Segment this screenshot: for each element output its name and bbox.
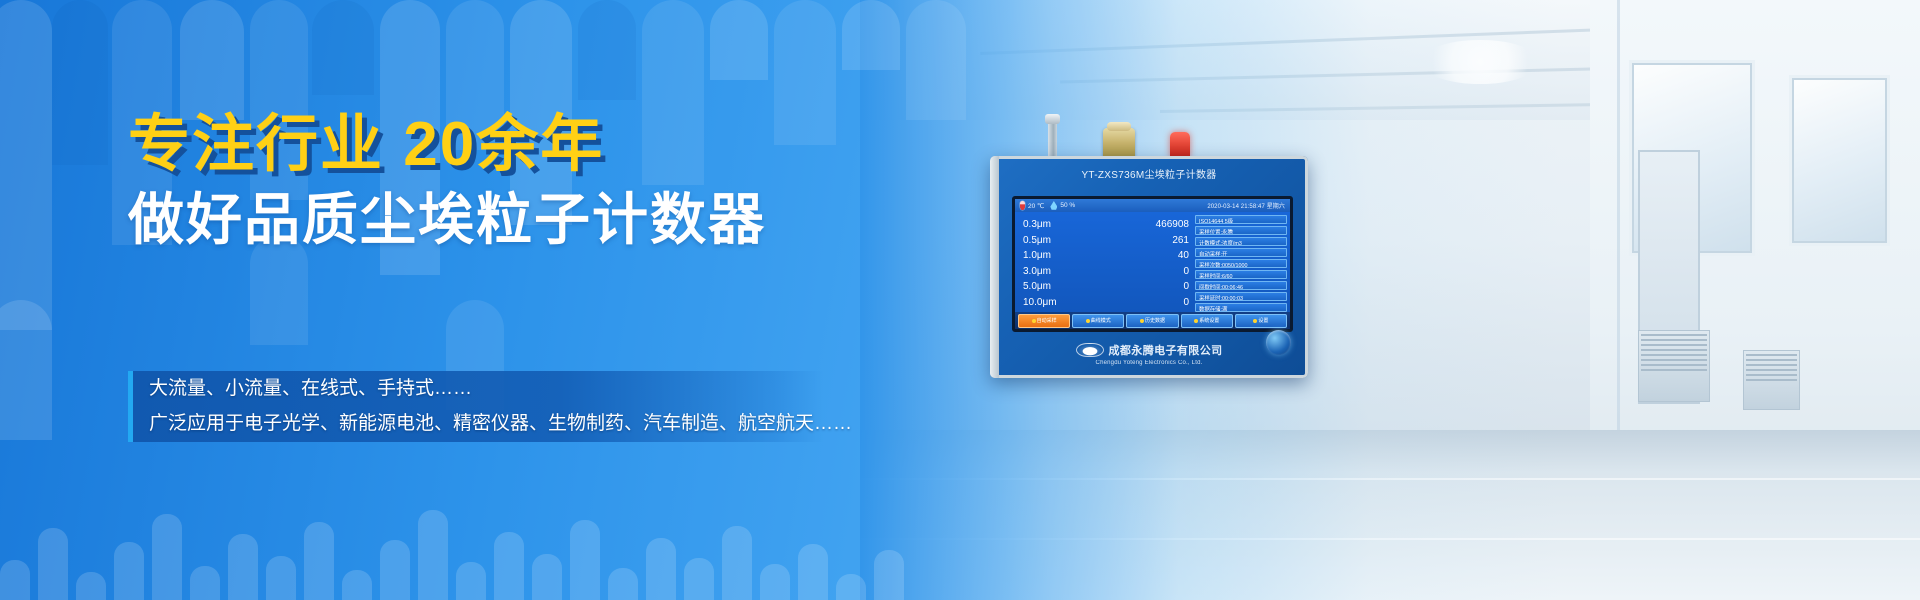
brand-name-en: Chengdu Yoteng Electronics Co., Ltd. (990, 360, 1308, 366)
sampling-nozzle-cap (1107, 122, 1131, 131)
info-row: 采样延时:00:00:03 (1195, 292, 1287, 301)
particle-size: 10.0μm (1023, 295, 1057, 311)
info-row: 数据存储:满 (1195, 303, 1287, 312)
lcd-status-bar: 20 ℃ 50 % 2020-03-14 21:58:47 星期六 (1015, 199, 1290, 212)
thermometer-icon (1020, 201, 1025, 210)
promo-banner: 专注行业 20余年 做好品质尘埃粒子计数器 大流量、小流量、在线式、手持式…… … (0, 0, 1920, 600)
humidity-indicator: 50 % (1050, 201, 1075, 210)
lcd-button-label: 系统设置 (1199, 317, 1219, 324)
particle-row: 0.5μm 261 (1023, 233, 1189, 249)
lcd-info-panel: ISO14644 5级 采样位置:永腾 计数模式:浓度/m3 自动采样:开 采样… (1195, 212, 1290, 312)
particle-count: 0 (1183, 264, 1189, 280)
lcd-button-auto-sample[interactable]: 自动采样 (1018, 314, 1070, 328)
gear-icon (1194, 319, 1198, 323)
probe-tip (1045, 114, 1060, 124)
wrench-icon (1253, 319, 1257, 323)
lcd-button-label: 历史数据 (1145, 317, 1165, 324)
particle-row: 3.0μm 0 (1023, 264, 1189, 280)
particle-row: 5.0μm 0 (1023, 279, 1189, 295)
info-row: 计数模式:浓度/m3 (1195, 237, 1287, 246)
water-drop-icon (1050, 201, 1057, 210)
particle-counter-device: YT-ZXS736M尘埃粒子计数器 20 ℃ 50 % 2020-03-14 2… (990, 118, 1308, 378)
humidity-value: 50 % (1060, 202, 1075, 209)
lcd-button-label: 自动采样 (1037, 317, 1057, 324)
info-row: 采样位置:永腾 (1195, 226, 1287, 235)
temperature-value: 20 ℃ (1028, 202, 1044, 210)
info-row: 自动采样:开 (1195, 248, 1287, 257)
info-row: 采样时间:6/60 (1195, 270, 1287, 279)
yoteng-logo-icon (1076, 343, 1104, 357)
particle-size: 3.0μm (1023, 264, 1051, 280)
info-row: 采样次数:0050/1000 (1195, 259, 1287, 268)
lcd-toolbar: 自动采样 曲线模式 历史数据 系统设置 设置 (1015, 312, 1290, 329)
lcd-main-area: 0.3μm 466908 0.5μm 261 1.0μm 40 3.0μm 0 (1015, 212, 1290, 312)
device-branding: 成都永腾电子有限公司 Chengdu Yoteng Electronics Co… (990, 342, 1308, 366)
sampling-nozzle (1103, 128, 1135, 158)
particle-count: 40 (1178, 248, 1189, 264)
particle-row: 1.0μm 40 (1023, 248, 1189, 264)
device-model-label: YT-ZXS736M尘埃粒子计数器 (990, 166, 1308, 181)
particle-count: 0 (1183, 295, 1189, 311)
headline-secondary: 做好品质尘埃粒子计数器 (128, 189, 888, 251)
datetime-value: 2020-03-14 21:58:47 星期六 (1207, 201, 1285, 210)
info-row: ISO14644 5级 (1195, 215, 1287, 224)
particle-size: 0.5μm (1023, 233, 1051, 249)
decorative-bottom-bars (0, 470, 1100, 600)
lcd-button-system-settings[interactable]: 系统设置 (1181, 314, 1233, 328)
history-icon (1140, 319, 1144, 323)
temperature-indicator: 20 ℃ (1020, 201, 1044, 210)
brand-name-cn: 成都永腾电子有限公司 (1109, 342, 1223, 358)
device-lcd-screen[interactable]: 20 ℃ 50 % 2020-03-14 21:58:47 星期六 0.3μm … (1012, 196, 1293, 332)
subtitle-line-1: 大流量、小流量、在线式、手持式…… (133, 371, 823, 406)
lcd-button-curve-mode[interactable]: 曲线模式 (1072, 314, 1124, 328)
subtitle-box: 大流量、小流量、在线式、手持式…… 广泛应用于电子光学、新能源电池、精密仪器、生… (128, 371, 823, 442)
particle-count: 0 (1183, 279, 1189, 295)
particle-size: 0.3μm (1023, 217, 1051, 233)
probe-rod (1048, 118, 1057, 160)
play-icon (1032, 319, 1036, 323)
lcd-button-settings[interactable]: 设置 (1235, 314, 1287, 328)
particle-count: 261 (1172, 233, 1189, 249)
particle-row: 10.0μm 0 (1023, 295, 1189, 311)
banner-text-block: 专注行业 20余年 做好品质尘埃粒子计数器 (128, 112, 888, 251)
headline-primary: 专注行业 20余年 (128, 112, 888, 177)
lcd-button-label: 曲线模式 (1091, 317, 1111, 324)
chart-icon (1086, 319, 1090, 323)
subtitle-line-2: 广泛应用于电子光学、新能源电池、精密仪器、生物制药、汽车制造、航空航天…… (133, 406, 823, 441)
lcd-button-history[interactable]: 历史数据 (1126, 314, 1178, 328)
particle-count: 466908 (1156, 217, 1189, 233)
info-row: 间歇时间:00:06:46 (1195, 281, 1287, 290)
particle-size: 5.0μm (1023, 279, 1051, 295)
particle-size: 1.0μm (1023, 248, 1051, 264)
lcd-button-label: 设置 (1258, 317, 1268, 324)
alarm-lamp (1170, 132, 1190, 158)
particle-reading-list: 0.3μm 466908 0.5μm 261 1.0μm 40 3.0μm 0 (1015, 212, 1195, 312)
particle-row: 0.3μm 466908 (1023, 217, 1189, 233)
